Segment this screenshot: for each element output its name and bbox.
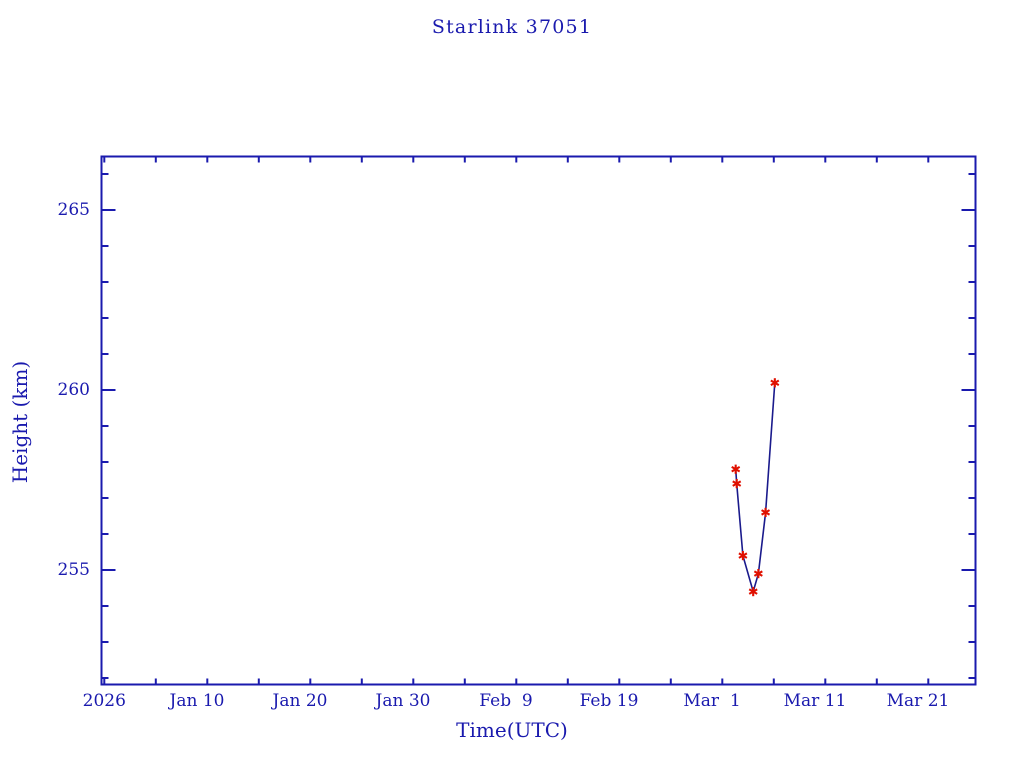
data-markers[interactable]	[732, 378, 779, 596]
chart-page: Starlink 37051 255260265 2026Jan 10Jan 2…	[0, 0, 1024, 768]
y-tick-label: 265	[20, 200, 90, 220]
y-axis-title: Height (km)	[8, 322, 32, 522]
data-point-marker[interactable]	[762, 508, 770, 517]
y-tick-label: 255	[20, 560, 90, 580]
data-point-marker[interactable]	[732, 465, 740, 474]
x-axis-ticks	[104, 157, 928, 685]
y-axis-ticks	[102, 174, 976, 678]
plot-frame	[102, 157, 976, 685]
x-axis-title: Time(UTC)	[0, 718, 1024, 742]
plot-area[interactable]	[0, 0, 1024, 768]
data-point-marker[interactable]	[749, 587, 757, 596]
data-point-marker[interactable]	[754, 569, 762, 578]
data-point-marker[interactable]	[771, 378, 779, 387]
data-line	[736, 383, 775, 592]
data-point-marker[interactable]	[739, 551, 747, 560]
data-point-marker[interactable]	[733, 479, 741, 488]
x-tick-label: Mar 21	[838, 691, 998, 711]
